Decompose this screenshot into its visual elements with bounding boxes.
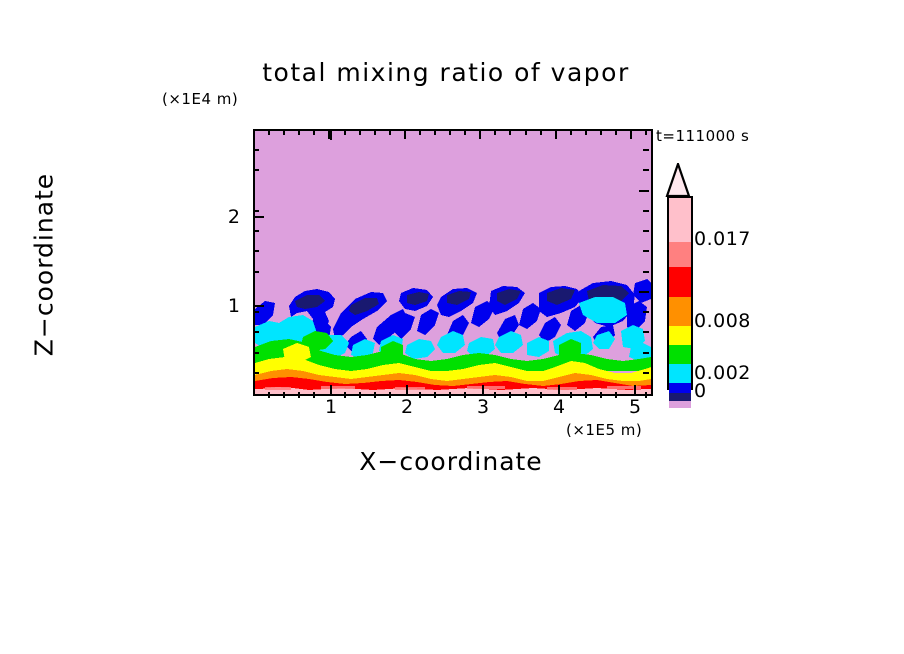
y-minor-tick-right [643,331,649,333]
x-minor-tick-top [344,129,346,135]
x-minor-tick [449,392,451,398]
colorbar-extend-arrow [665,163,691,197]
y-minor-tick [253,210,259,212]
y-tick-1 [253,305,264,307]
colorbar-band-2 [669,267,691,297]
y-tick-label-1: 1 [206,295,240,317]
x-minor-tick [494,392,496,398]
y-minor-tick [253,311,259,313]
timestamp-label: t=111000 s [656,127,749,145]
y-minor-tick [253,352,259,354]
x-minor-tick [540,392,542,398]
x-tick-2 [406,385,408,394]
x-major-tick-top [555,129,557,139]
y-minor-tick-right [643,129,649,131]
colorbar-band-9 [669,401,691,408]
x-minor-tick-top [374,129,376,135]
x-tick-label-2: 2 [387,396,427,418]
x-major-tick-top [404,129,406,139]
x-tick-label-1: 1 [311,396,351,418]
x-major-tick-top [479,129,481,139]
x-minor-tick [359,392,361,398]
x-tick-label-4: 4 [539,396,579,418]
colorbar-band-7 [669,383,691,393]
x-minor-tick [585,392,587,398]
x-minor-tick-top [570,129,572,135]
y-minor-tick [253,169,259,171]
x-minor-tick-top [585,129,587,135]
x-minor-tick-top [283,129,285,135]
x-minor-tick [374,392,376,398]
y-major-tick-right [639,291,649,293]
x-minor-tick-top [313,129,315,135]
x-minor-tick [283,392,285,398]
colorbar-band-6 [669,364,691,383]
x-minor-tick-top [434,129,436,135]
x-minor-tick [298,392,300,398]
y-minor-tick-right [643,210,649,212]
x-axis-units-label: (×1E5 m) [566,421,642,439]
y-minor-tick [253,230,259,232]
x-tick-5 [634,385,636,394]
x-minor-tick-top [540,129,542,135]
x-minor-tick-top [389,129,391,135]
colorbar-label-0.008: 0.008 [694,310,751,332]
x-major-tick-top [630,129,632,139]
page-title: total mixing ratio of vapor [0,58,904,87]
x-minor-tick [615,392,617,398]
x-minor-tick-top [449,129,451,135]
x-minor-tick-top [359,129,361,135]
y-minor-tick [253,331,259,333]
x-tick-3 [482,385,484,394]
chart-title-text: total mixing ratio of vapor [262,58,630,87]
x-minor-tick [645,392,647,398]
x-minor-tick [525,392,527,398]
colorbar [667,196,693,390]
y-minor-tick [253,129,259,131]
y-major-tick-right [639,190,649,192]
y-minor-tick-right [643,230,649,232]
x-tick-4 [558,385,560,394]
y-minor-tick-right [643,311,649,313]
x-minor-tick [570,392,572,398]
x-minor-tick-top [525,129,527,135]
colorbar-band-4 [669,326,691,345]
x-minor-tick [434,392,436,398]
colorbar-band-5 [669,345,691,364]
x-axis-title: X−coordinate [253,447,649,476]
contour-field [255,131,651,394]
y-minor-tick-right [643,372,649,374]
x-tick-top-major [330,129,332,140]
x-minor-tick [313,392,315,398]
x-tick-label-5: 5 [615,396,655,418]
y-minor-tick [253,149,259,151]
x-minor-tick [389,392,391,398]
x-minor-tick [268,392,270,398]
y-minor-tick-right [643,169,649,171]
colorbar-label-0.017: 0.017 [694,228,751,250]
x-minor-tick [600,392,602,398]
y-minor-tick-right [643,271,649,273]
x-minor-tick [464,392,466,398]
colorbar-label-0: 0 [694,380,707,402]
x-minor-tick-top [615,129,617,135]
colorbar-band-3 [669,297,691,326]
x-minor-tick [509,392,511,398]
x-minor-tick [344,392,346,398]
colorbar-band-0 [669,198,691,242]
x-minor-tick-top [298,129,300,135]
y-tick-2 [253,216,264,218]
y-minor-tick [253,271,259,273]
y-minor-tick-right [643,352,649,354]
x-major-tick-top [328,129,330,139]
x-minor-tick-top [419,129,421,135]
y-axis-units-label: (×1E4 m) [162,90,238,108]
x-minor-tick [419,392,421,398]
colorbar-band-8 [669,393,691,401]
y-axis-title: Z−coordinate [30,135,59,395]
x-minor-tick-top [464,129,466,135]
x-minor-tick-top [268,129,270,135]
x-minor-tick-top [509,129,511,135]
x-tick-1 [330,385,332,394]
y-minor-tick-right [643,250,649,252]
colorbar-band-1 [669,242,691,267]
x-minor-tick-top [600,129,602,135]
y-minor-tick-right [643,149,649,151]
y-minor-tick [253,372,259,374]
x-tick-label-3: 3 [463,396,503,418]
y-tick-label-2: 2 [206,206,240,228]
contour-plot-panel [253,129,653,396]
x-minor-tick-top [494,129,496,135]
y-minor-tick [253,250,259,252]
